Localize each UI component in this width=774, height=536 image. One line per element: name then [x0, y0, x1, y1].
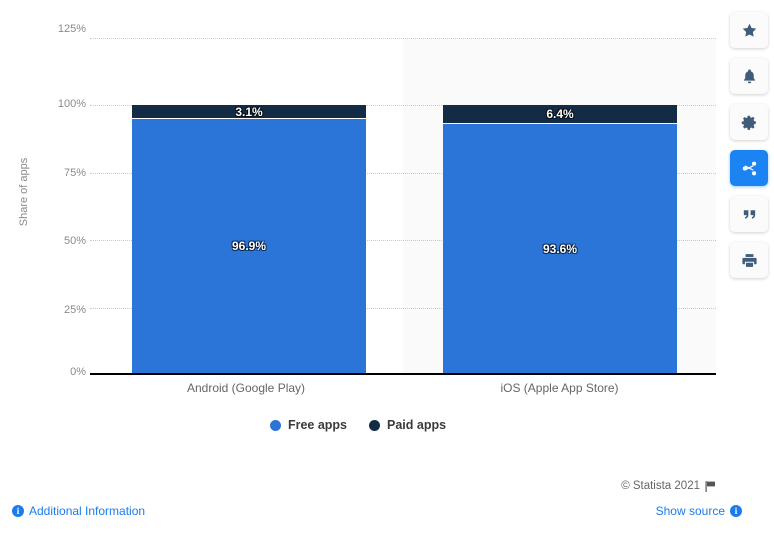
show-source-label: Show source [656, 504, 725, 518]
info-icon: i [730, 505, 742, 517]
copyright-text: © Statista 2021 [621, 480, 700, 492]
bar-segment-paid-android[interactable]: 3.1% [132, 105, 366, 118]
x-tick-label-ios: iOS (Apple App Store) [403, 381, 716, 395]
show-source-link[interactable]: Show source i [656, 504, 742, 518]
bar-ios[interactable]: 6.4% 93.6% [443, 105, 677, 373]
bar-segment-free-android[interactable]: 96.9% [132, 119, 366, 373]
y-tick-label: 75% [6, 167, 86, 179]
quote-icon [741, 206, 758, 223]
x-tick-label-android: Android (Google Play) [90, 381, 402, 395]
bar-android[interactable]: 3.1% 96.9% [132, 105, 366, 373]
bar-label-free-ios: 93.6% [543, 242, 577, 256]
y-axis-tick-labels: 125% 100% 75% 50% 25% 0% [0, 30, 86, 373]
print-button[interactable] [730, 242, 768, 278]
legend-item-free-apps[interactable]: Free apps [270, 418, 347, 432]
share-button[interactable] [730, 150, 768, 186]
legend-item-paid-apps[interactable]: Paid apps [369, 418, 446, 432]
settings-button[interactable] [730, 104, 768, 140]
print-icon [741, 252, 758, 269]
additional-information-link[interactable]: i Additional Information [12, 504, 145, 518]
legend-swatch-free-apps [270, 420, 281, 431]
x-axis-baseline [90, 373, 716, 375]
favorite-star-icon [741, 22, 758, 39]
y-tick-label: 50% [6, 235, 86, 247]
favorite-button[interactable] [730, 12, 768, 48]
y-tick-label: 100% [6, 98, 86, 110]
bar-label-paid-ios: 6.4% [546, 107, 573, 121]
notification-bell-icon [741, 68, 758, 85]
y-tick-label: 125% [6, 23, 86, 35]
y-tick-label: 25% [6, 304, 86, 316]
bar-label-paid-android: 3.1% [235, 105, 262, 119]
flag-icon [705, 481, 716, 492]
cite-button[interactable] [730, 196, 768, 232]
bar-segment-paid-ios[interactable]: 6.4% [443, 105, 677, 123]
share-icon [741, 160, 758, 177]
info-icon: i [12, 505, 24, 517]
bar-label-free-android: 96.9% [232, 239, 266, 253]
y-tick-label: 0% [6, 366, 86, 378]
legend-label-free-apps: Free apps [288, 418, 347, 432]
chart-legend: Free apps Paid apps [0, 418, 716, 432]
additional-information-label: Additional Information [29, 504, 145, 518]
legend-swatch-paid-apps [369, 420, 380, 431]
notifications-button[interactable] [730, 58, 768, 94]
plot-area: 3.1% 96.9% 6.4% 93.6% [90, 30, 716, 373]
right-toolbar [730, 12, 770, 278]
bar-segment-free-ios[interactable]: 93.6% [443, 124, 677, 373]
gridline-125 [90, 38, 716, 39]
settings-gear-icon [741, 114, 758, 131]
chart-canvas: Share of apps 125% 100% 75% 50% 25% 0% 3… [0, 0, 716, 460]
copyright-notice: © Statista 2021 [621, 480, 716, 492]
legend-label-paid-apps: Paid apps [387, 418, 446, 432]
